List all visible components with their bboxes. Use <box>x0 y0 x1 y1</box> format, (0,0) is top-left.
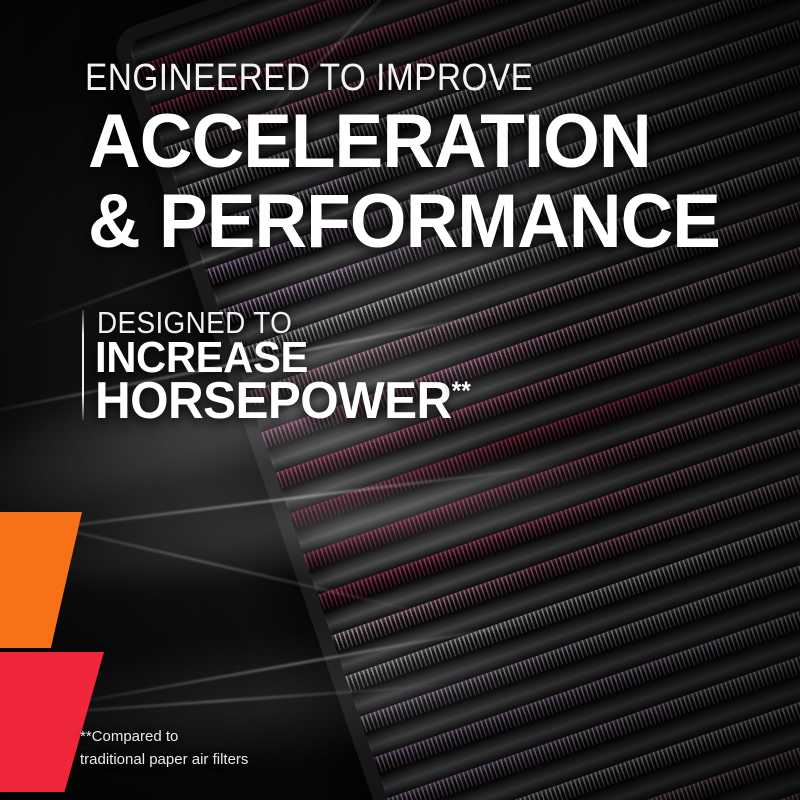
advertisement-canvas: ENGINEERED TO IMPROVE ACCELERATION & PER… <box>0 0 800 800</box>
headline-eyebrow: ENGINEERED TO IMPROVE <box>85 57 533 100</box>
footnote-block: **Compared to traditional paper air filt… <box>80 726 340 771</box>
subhead-line-2-text: HORSEPOWER <box>95 372 452 430</box>
headline-line-2: & PERFORMANCE <box>88 184 720 260</box>
footnote-line-1: **Compared to <box>80 726 340 749</box>
subhead-line-2: HORSEPOWER** <box>95 375 471 427</box>
headline-line-1: ACCELERATION <box>88 104 651 180</box>
subhead-vertical-rule <box>82 310 84 420</box>
footnote-marker: ** <box>452 376 471 406</box>
footnote-line-2: traditional paper air filters <box>80 749 340 772</box>
